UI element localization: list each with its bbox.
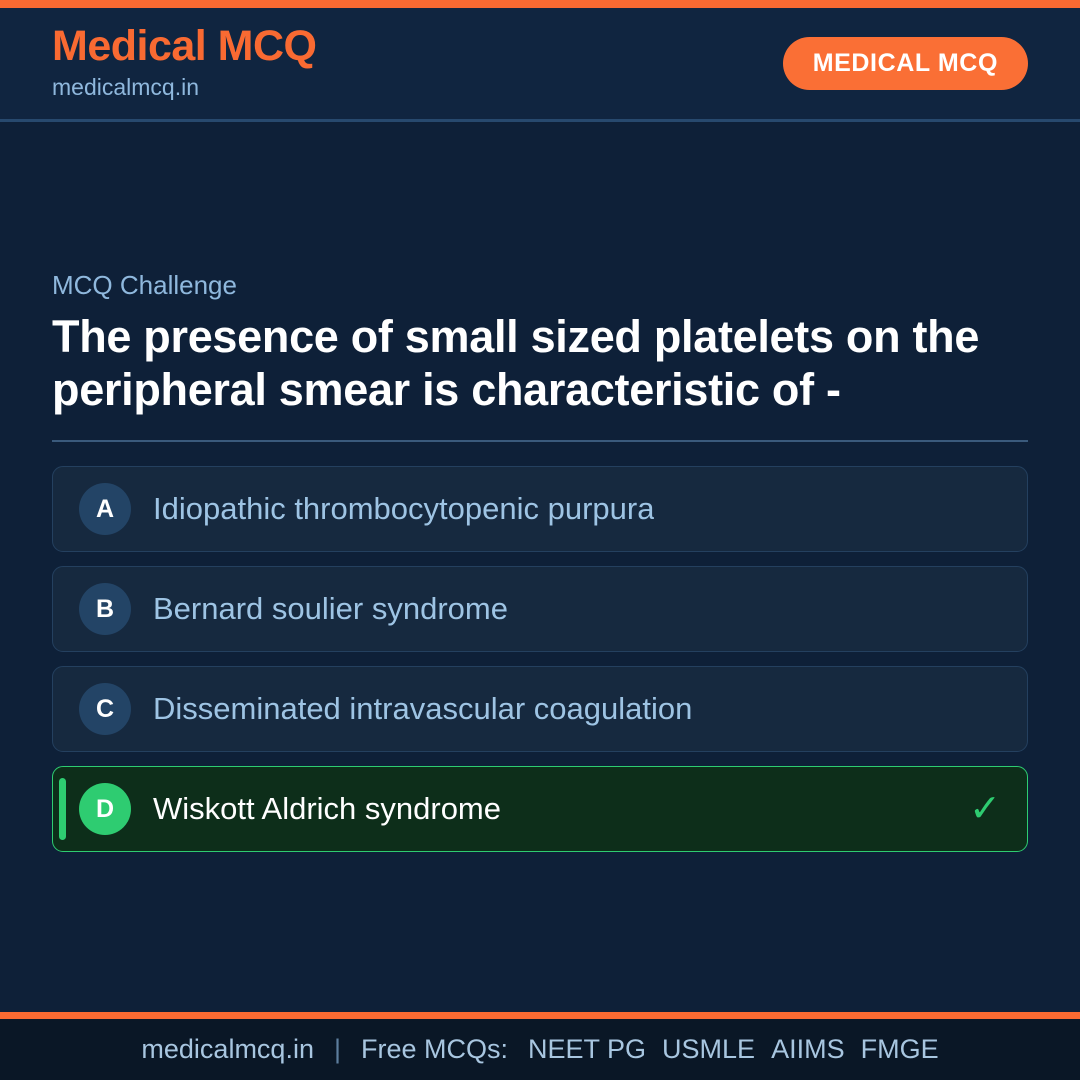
brand-subtitle: medicalmcq.in: [52, 73, 317, 103]
top-accent-bar: [0, 0, 1080, 8]
correct-accent-bar: [59, 778, 66, 840]
option-letter-badge: A: [79, 483, 131, 535]
options-list: A Idiopathic thrombocytopenic purpura ✓ …: [52, 466, 1028, 852]
option-text: Idiopathic thrombocytopenic purpura: [153, 491, 654, 527]
brand: Medical MCQ medicalmcq.in: [52, 24, 317, 102]
option-text: Disseminated intravascular coagulation: [153, 691, 692, 727]
option-letter-badge: D: [79, 783, 131, 835]
option-text: Wiskott Aldrich syndrome: [153, 791, 501, 827]
main-content: MCQ Challenge The presence of small size…: [0, 122, 1080, 1012]
mcq-card: Medical MCQ medicalmcq.in MEDICAL MCQ MC…: [0, 0, 1080, 1080]
question-block: MCQ Challenge The presence of small size…: [52, 270, 1028, 442]
brand-title: Medical MCQ: [52, 24, 317, 69]
footer-tag-fmge: FMGE: [861, 1034, 939, 1065]
question-text: The presence of small sized platelets on…: [52, 311, 1028, 416]
footer: medicalmcq.in | Free MCQs: NEET PG USMLE…: [0, 1019, 1080, 1080]
option-a[interactable]: A Idiopathic thrombocytopenic purpura ✓: [52, 466, 1028, 552]
option-c[interactable]: C Disseminated intravascular coagulation…: [52, 666, 1028, 752]
footer-tags: NEET PG USMLE AIIMS FMGE: [528, 1034, 939, 1065]
option-b[interactable]: B Bernard soulier syndrome ✓: [52, 566, 1028, 652]
option-text: Bernard soulier syndrome: [153, 591, 508, 627]
footer-site: medicalmcq.in: [141, 1034, 314, 1065]
check-icon: ✓: [969, 790, 1001, 828]
footer-tag-aiims: AIIMS: [771, 1034, 845, 1065]
footer-separator: |: [334, 1034, 341, 1065]
option-letter-badge: C: [79, 683, 131, 735]
header: Medical MCQ medicalmcq.in MEDICAL MCQ: [0, 8, 1080, 122]
footer-tag-usmle: USMLE: [662, 1034, 755, 1065]
option-d[interactable]: D Wiskott Aldrich syndrome ✓: [52, 766, 1028, 852]
question-divider: [52, 440, 1028, 442]
eyebrow-label: MCQ Challenge: [52, 270, 1028, 301]
brand-badge: MEDICAL MCQ: [783, 37, 1028, 90]
footer-accent-bar: [0, 1012, 1080, 1019]
footer-tag-neet-pg: NEET PG: [528, 1034, 646, 1065]
footer-label: Free MCQs:: [361, 1034, 508, 1065]
option-letter-badge: B: [79, 583, 131, 635]
